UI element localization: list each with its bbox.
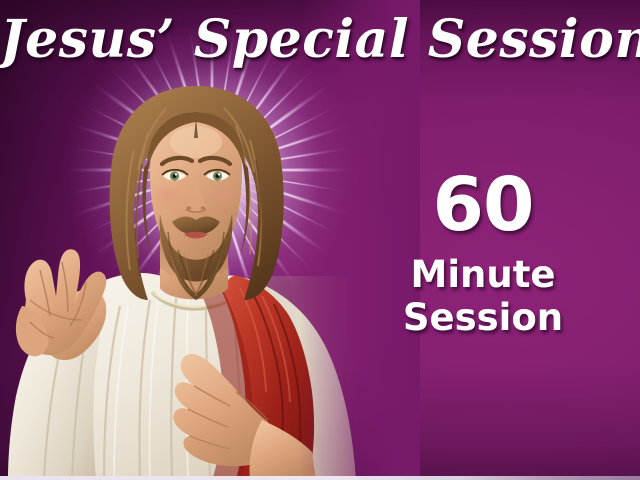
duration-session-label: Session [378,297,588,340]
slide-title: Jesus’ Special Session [0,14,640,66]
bottom-strip [0,476,640,480]
presentation-slide: Jesus’ Special Session 60 Minute Session [0,0,640,480]
jesus-portrait-image [0,0,400,480]
duration-unit-label: Minute [378,254,588,297]
duration-number: 60 [378,168,588,242]
session-duration-block: 60 Minute Session [378,168,588,340]
